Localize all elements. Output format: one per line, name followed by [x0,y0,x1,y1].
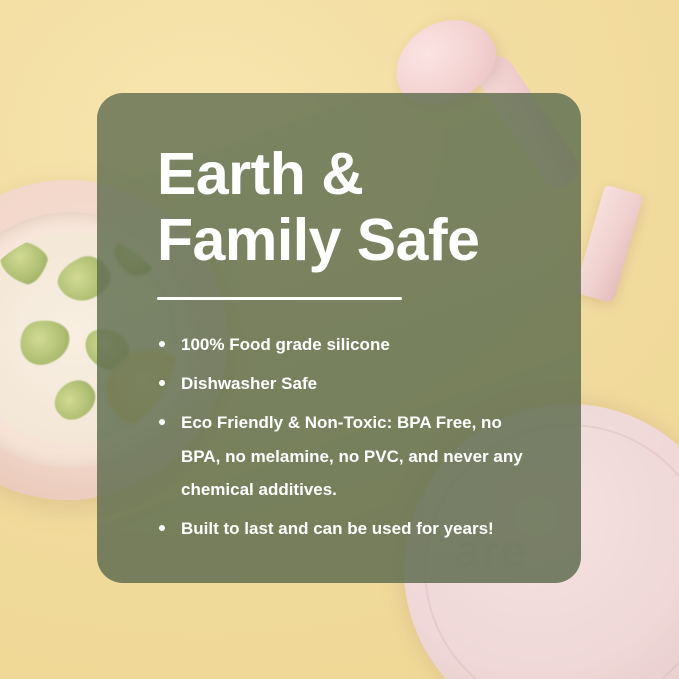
kiwi-piece [47,373,102,428]
card-content: Earth & Family Safe 100% Food grade sili… [97,93,581,545]
list-item: Eco Friendly & Non-Toxic: BPA Free, no B… [157,406,539,505]
list-item: Dishwasher Safe [157,367,539,400]
list-item: 100% Food grade silicone [157,328,539,361]
product-feature-graphic: are Earth & Family Safe 100% Food grade … [0,0,679,679]
feature-card: Earth & Family Safe 100% Food grade sili… [97,93,581,583]
kiwi-piece [0,236,51,288]
feature-list: 100% Food grade silicone Dishwasher Safe… [157,328,539,545]
title-divider [157,297,402,300]
kiwi-piece [16,315,74,368]
list-item: Built to last and can be used for years! [157,512,539,545]
spoon-handle-emboss-text [614,188,625,226]
page-title: Earth & Family Safe [157,141,539,273]
